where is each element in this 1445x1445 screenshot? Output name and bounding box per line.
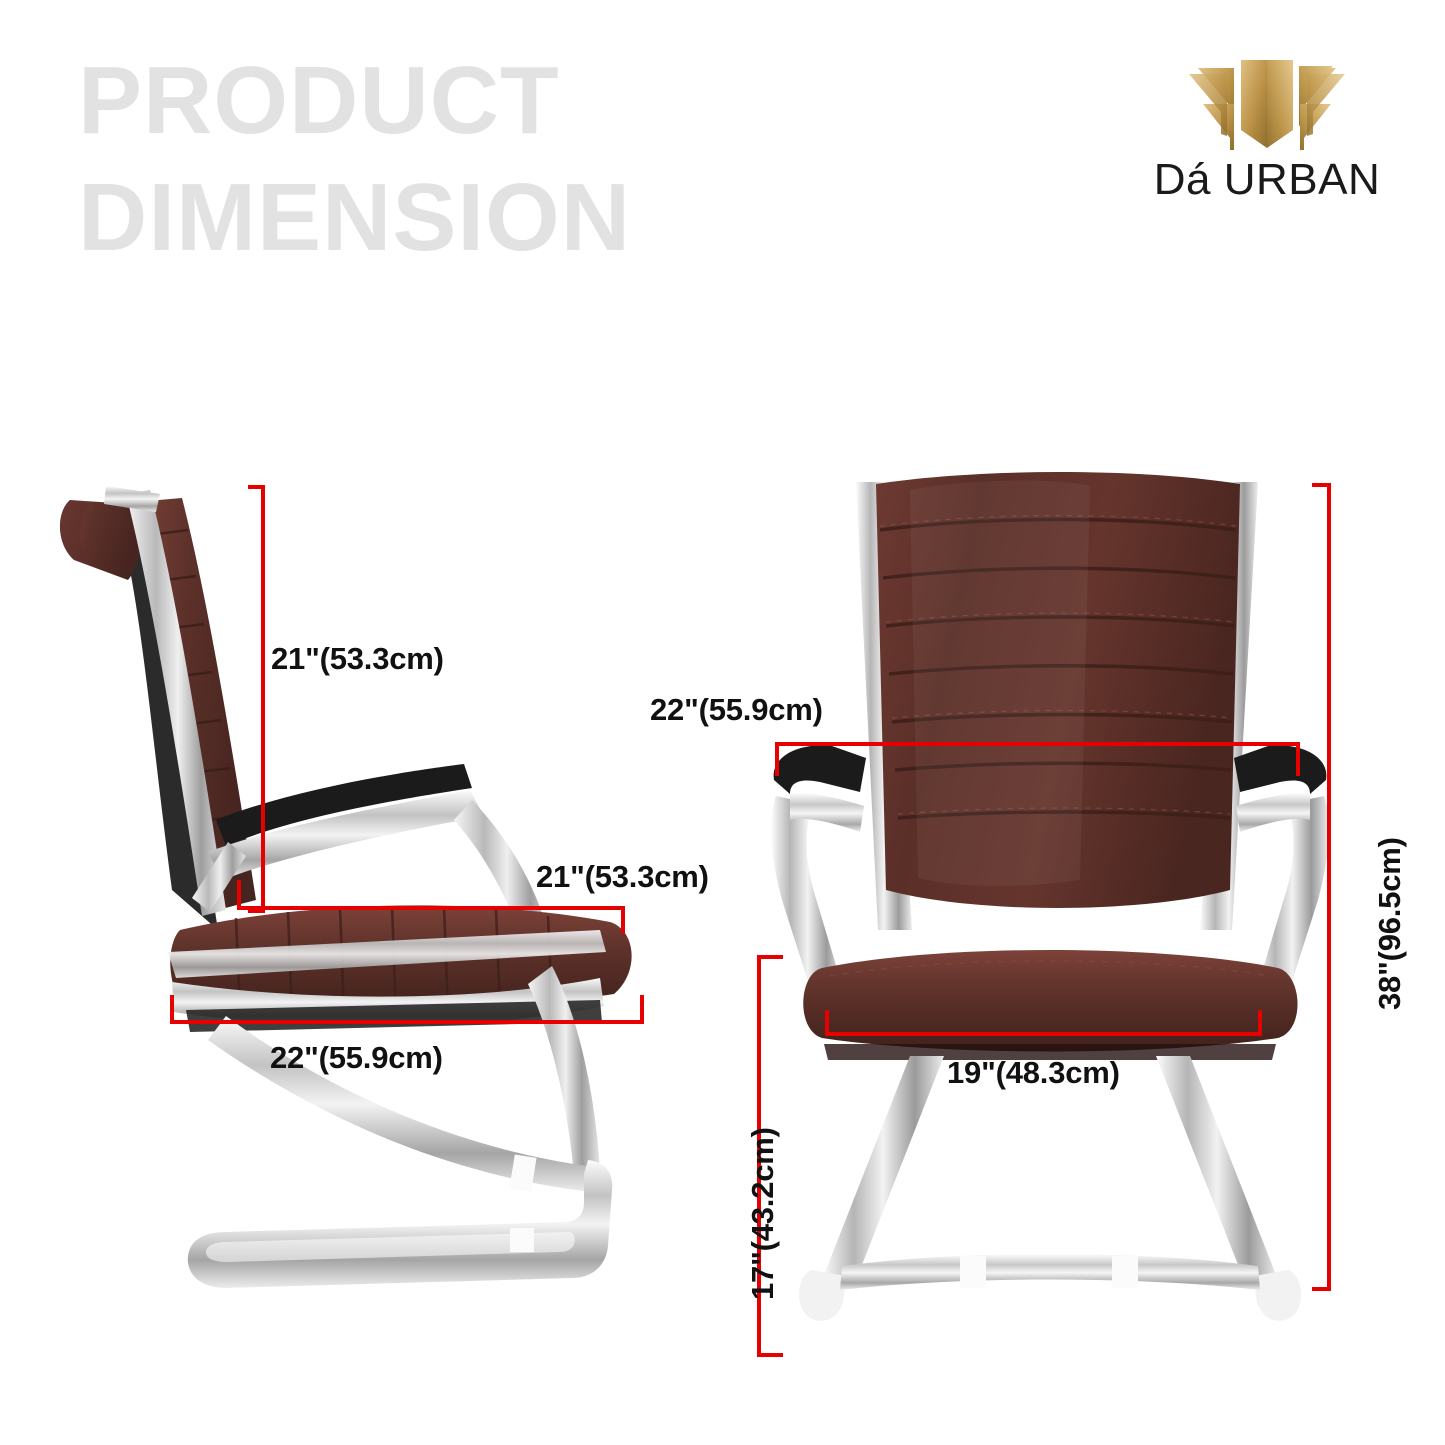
brand-logo: Dá URBAN bbox=[1117, 52, 1417, 220]
dimline-seat-height-tick-top bbox=[757, 955, 783, 959]
dimline-seat-width-tick-left bbox=[825, 1010, 829, 1036]
base-crossbar bbox=[840, 1254, 1260, 1290]
page-title: PRODUCT DIMENSION bbox=[78, 42, 838, 276]
dimension-label-seat-depth: 21"(53.3cm) bbox=[536, 859, 709, 895]
dimline-overall-depth-tick-left bbox=[170, 995, 174, 1024]
dimline-back-width-tick-left bbox=[775, 742, 779, 776]
dimline-overall-height-tick-top bbox=[1312, 483, 1331, 487]
cantilever-leg-right bbox=[1156, 1056, 1278, 1280]
dimension-label-overall-depth: 22"(55.9cm) bbox=[270, 1040, 443, 1076]
dimension-label-seat-height: 17"(43.2cm) bbox=[745, 1127, 781, 1300]
armrest-left bbox=[771, 745, 866, 1000]
brand-name: Dá URBAN bbox=[1117, 158, 1417, 202]
dimline-overall-depth-horizontal bbox=[170, 1020, 644, 1024]
foot-cap-right bbox=[1254, 1270, 1301, 1321]
seat-cushion bbox=[803, 950, 1297, 1052]
dimension-label-seat-width: 19"(48.3cm) bbox=[947, 1055, 1120, 1091]
dimline-back-width-tick-right bbox=[1296, 742, 1300, 776]
cantilever-leg-left bbox=[822, 1056, 944, 1280]
foot-cap-left bbox=[799, 1270, 846, 1321]
dimline-back-height-tick-top bbox=[248, 485, 265, 489]
chair-front-view bbox=[760, 460, 1340, 1360]
wheat-emblem-icon bbox=[1117, 52, 1417, 156]
dimline-overall-height-tick-bottom bbox=[1312, 1287, 1331, 1291]
dimension-label-back-width: 22"(55.9cm) bbox=[650, 692, 823, 728]
dimline-seat-height-tick-bottom bbox=[757, 1353, 783, 1357]
armrest-right bbox=[1234, 745, 1329, 1000]
crossbar-sleeve-left bbox=[960, 1256, 986, 1288]
dimline-seat-depth-tick-right bbox=[621, 906, 625, 934]
dimline-seat-width-horizontal bbox=[825, 1032, 1262, 1036]
dimension-label-overall-height: 38"(96.5cm) bbox=[1372, 837, 1408, 1010]
page-title-line-1: PRODUCT bbox=[78, 42, 838, 159]
runner-sleeve bbox=[510, 1228, 534, 1252]
dimline-overall-height-vertical bbox=[1327, 483, 1331, 1291]
dimline-back-height-vertical bbox=[261, 485, 265, 913]
product-dimension-page: PRODUCT DIMENSION bbox=[0, 0, 1445, 1445]
dimline-back-width-horizontal bbox=[775, 742, 1300, 746]
chair-side-view bbox=[40, 460, 680, 1360]
page-title-line-2: DIMENSION bbox=[78, 159, 838, 276]
dimline-seat-width-tick-right bbox=[1258, 1010, 1262, 1036]
crossbar-sleeve-right bbox=[1112, 1256, 1138, 1288]
dimline-overall-depth-tick-right bbox=[640, 995, 644, 1024]
dimension-label-back-height: 21"(53.3cm) bbox=[271, 641, 444, 677]
dimline-seat-depth-tick-left bbox=[237, 880, 241, 910]
dimline-seat-depth-horizontal bbox=[237, 906, 625, 910]
